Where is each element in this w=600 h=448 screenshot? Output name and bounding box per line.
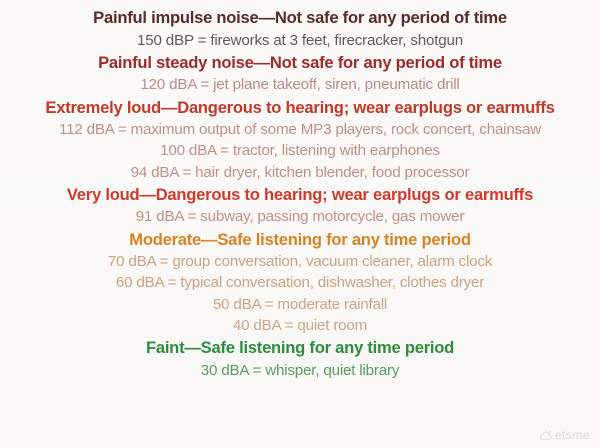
- noise-level-chart: Painful impulse noise—Not safe for any p…: [0, 0, 600, 448]
- section-heading-very-loud: Very loud—Dangerous to hearing; wear ear…: [8, 187, 592, 204]
- watermark: etsme: [539, 428, 590, 442]
- detail-line-94-dba: 94 dBA = hair dryer, kitchen blender, fo…: [8, 165, 592, 180]
- detail-line-30-dba: 30 dBA = whisper, quiet library: [8, 363, 592, 378]
- section-heading-extremely-loud: Extremely loud—Dangerous to hearing; wea…: [8, 100, 592, 117]
- section-heading-moderate: Moderate—Safe listening for any time per…: [8, 232, 592, 249]
- detail-line-70-dba: 70 dBA = group conversation, vacuum clea…: [8, 254, 592, 269]
- detail-line-50-dba: 50 dBA = moderate rainfall: [8, 297, 592, 312]
- detail-line-112-dba: 112 dBA = maximum output of some MP3 pla…: [8, 122, 592, 137]
- detail-line-91-dba: 91 dBA = subway, passing motorcycle, gas…: [8, 209, 592, 224]
- section-heading-painful-steady-noise: Painful steady noise—Not safe for any pe…: [8, 55, 592, 72]
- watermark-label: etsme: [555, 428, 590, 442]
- detail-line-60-dba: 60 dBA = typical conversation, dishwashe…: [8, 275, 592, 290]
- section-heading-painful-impulse-noise: Painful impulse noise—Not safe for any p…: [8, 10, 592, 27]
- detail-line-40-dba: 40 dBA = quiet room: [8, 318, 592, 333]
- section-heading-faint: Faint—Safe listening for any time period: [8, 340, 592, 357]
- detail-line-150-dbp: 150 dBP = fireworks at 3 feet, firecrack…: [8, 33, 592, 48]
- cloud-icon: [539, 430, 552, 441]
- detail-line-100-dba: 100 dBA = tractor, listening with earpho…: [8, 143, 592, 158]
- detail-line-120-dba: 120 dBA = jet plane takeoff, siren, pneu…: [8, 77, 592, 92]
